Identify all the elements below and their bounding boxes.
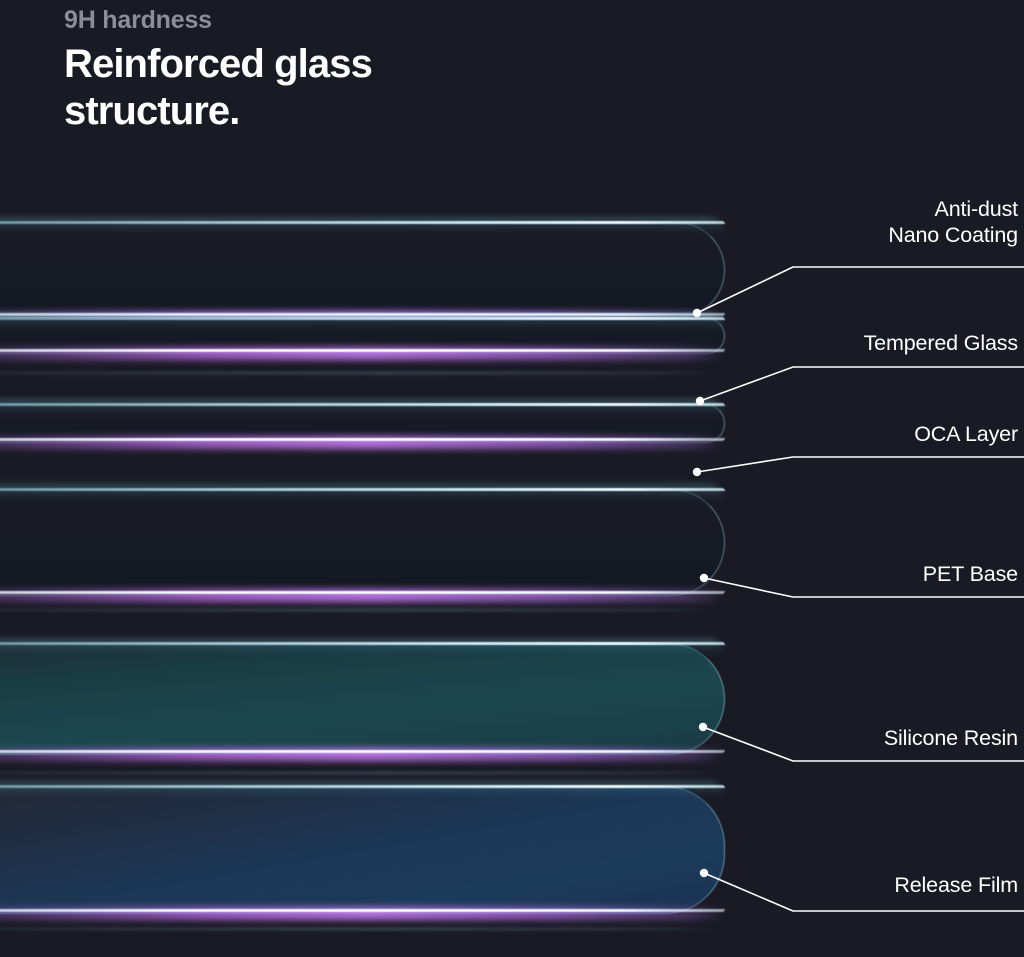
layer-label-pet-base: PET Base [923,561,1018,587]
layer-bot-edge [0,591,725,594]
layer-top-glow [0,781,725,797]
layer-top-edge [0,785,725,788]
layer-edge-rim [0,222,725,318]
layer-top-glow [0,484,725,500]
layer-bot-edge [0,909,725,912]
ghost-reflection-line [0,928,720,930]
layer-label-silicone-resin: Silicone Resin [884,725,1018,751]
layer-top-glow [0,313,725,329]
layer-top-glow [0,399,725,415]
layer-top-edge [0,403,725,406]
layer-top-edge [0,488,725,491]
layer-label-release-film: Release Film [894,872,1018,898]
layer-edge-rim [0,786,725,914]
ghost-reflection-line [0,372,720,374]
layer-top-edge [0,317,725,320]
layer-bot-edge [0,750,725,753]
glass-layer-pet-base [0,489,725,596]
product-infographic: 9H hardness Reinforced glass structure. … [0,0,1024,957]
ghost-reflection-line [0,609,720,611]
glass-layer-stack [0,0,1024,957]
layer-top-edge [0,642,725,645]
layer-bot-edge [0,438,725,441]
header-block: 9H hardness Reinforced glass structure. [64,6,372,134]
layer-top-edge [0,221,725,224]
layer-label-tempered-glass: Tempered Glass [864,330,1018,356]
glass-layer-silicone-resin [0,643,725,755]
layer-label-anti-dust-nano-coating: Anti-dust Nano Coating [888,196,1018,248]
glass-layer-anti-dust-nano-coating [0,222,725,318]
layer-edge-rim [0,643,725,755]
eyebrow-label: 9H hardness [64,6,372,35]
glass-layer-oca-layer [0,404,725,443]
glass-layer-release-film [0,786,725,914]
layer-top-glow [0,217,725,233]
layer-label-oca-layer: OCA Layer [914,421,1018,447]
ghost-reflection-line [0,772,720,774]
layer-bot-edge [0,349,725,352]
page-title: Reinforced glass structure. [64,41,372,135]
glass-layer-tempered-glass [0,318,725,354]
layer-top-glow [0,638,725,654]
layer-edge-rim [0,489,725,596]
